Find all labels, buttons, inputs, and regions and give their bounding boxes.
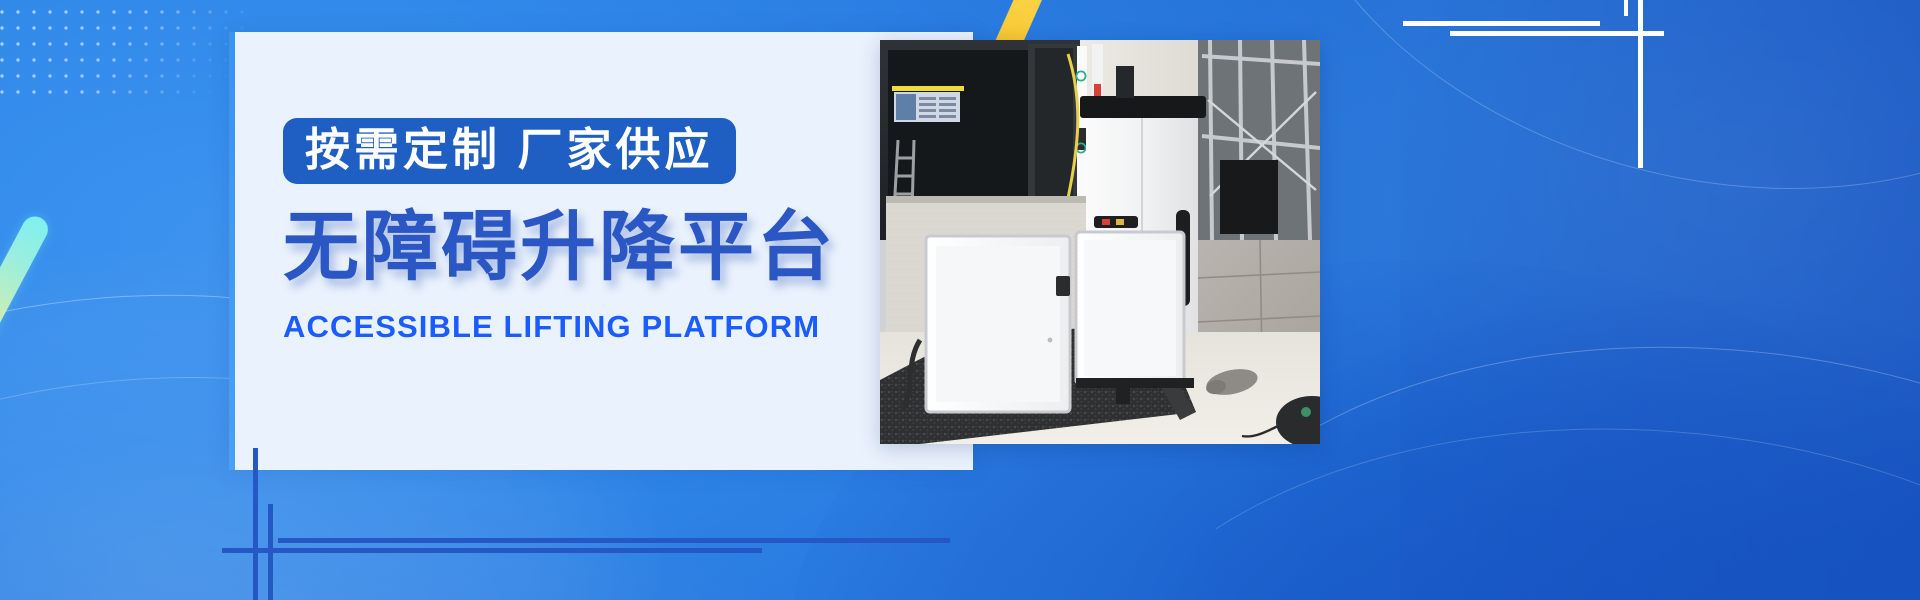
cyan-yellow-diagonal-bar bbox=[0, 212, 52, 418]
right-gradient-wash bbox=[1400, 0, 1920, 600]
blue-rule-horizontal-2 bbox=[222, 548, 762, 553]
white-rule-vertical-2 bbox=[1624, 0, 1628, 16]
headline-copy-block: 按需定制 厂家供应 无障碍升降平台 ACCESSIBLE LIFTING PLA… bbox=[283, 118, 923, 345]
page-subtitle: ACCESSIBLE LIFTING PLATFORM bbox=[283, 309, 923, 345]
product-photo-illustration bbox=[880, 40, 1320, 444]
blue-rule-vertical-1 bbox=[253, 448, 258, 600]
tagline-badge: 按需定制 厂家供应 bbox=[283, 118, 736, 184]
page-title: 无障碍升降平台 bbox=[283, 208, 923, 289]
product-photo bbox=[880, 40, 1320, 444]
white-rule-vertical-1 bbox=[1638, 0, 1643, 168]
promo-banner: 按需定制 厂家供应 无障碍升降平台 ACCESSIBLE LIFTING PLA… bbox=[0, 0, 1920, 600]
white-rule-horizontal-2 bbox=[1450, 31, 1664, 36]
white-rule-horizontal-1 bbox=[1403, 21, 1600, 26]
dot-grid-pattern bbox=[0, 4, 244, 96]
blue-rule-horizontal-1 bbox=[278, 538, 950, 543]
blue-rule-vertical-2 bbox=[268, 504, 273, 600]
